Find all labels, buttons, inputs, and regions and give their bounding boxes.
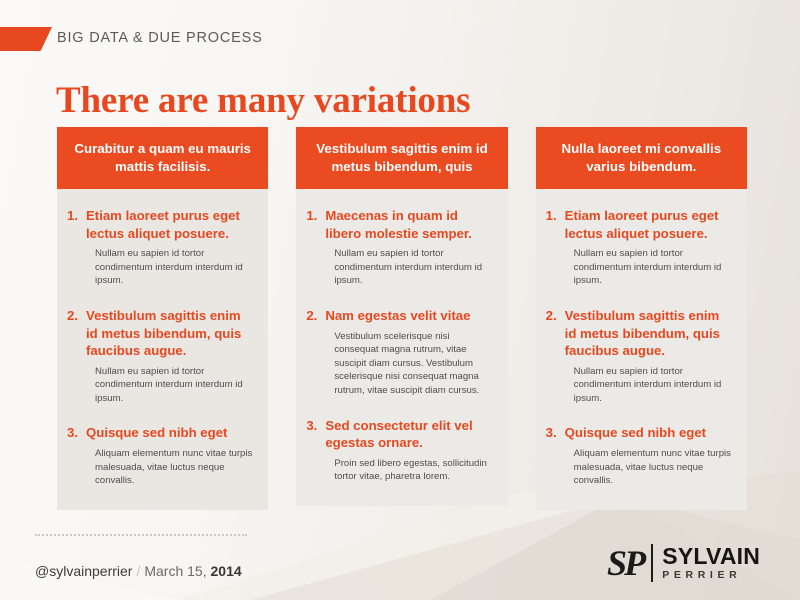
column-body-1: 1. Etiam laoreet purus eget lectus aliqu… xyxy=(57,189,268,510)
slide-eyebrow: BIG DATA & DUE PROCESS xyxy=(57,30,263,46)
list-item: 1. Etiam laoreet purus eget lectus aliqu… xyxy=(546,207,733,288)
column-group: Curabitur a quam eu mauris mattis facili… xyxy=(57,127,747,510)
footer-year: 2014 xyxy=(211,563,242,579)
list-item-number: 3. xyxy=(306,417,325,484)
list-item: 3. Quisque sed nibh eget Aliquam element… xyxy=(546,424,733,487)
list-item-title: Etiam laoreet purus eget lectus aliquet … xyxy=(86,207,254,242)
column-header-3: Nulla laoreet mi convallis varius bibend… xyxy=(536,127,747,189)
content-column-3: Nulla laoreet mi convallis varius bibend… xyxy=(536,127,747,510)
column-body-2: 1. Maecenas in quam id libero molestie s… xyxy=(296,189,507,506)
list-item-number: 1. xyxy=(67,207,86,288)
list-item-title: Vestibulum sagittis enim id metus bibend… xyxy=(86,307,254,360)
logo-wordmark: SYLVAIN PERRIER xyxy=(662,544,760,582)
list-item-description: Vestibulum scelerisque nisi consequat ma… xyxy=(325,330,493,398)
list-item-title: Sed consectetur elit vel egestas ornare. xyxy=(325,417,493,452)
list-item-number: 2. xyxy=(67,307,86,405)
list-item: 3. Sed consectetur elit vel egestas orna… xyxy=(306,417,493,484)
list-item-title: Nam egestas velit vitae xyxy=(325,307,493,325)
list-item-description: Nullam eu sapien id tortor condimentum i… xyxy=(565,247,733,288)
column-header-1: Curabitur a quam eu mauris mattis facili… xyxy=(57,127,268,189)
content-column-1: Curabitur a quam eu mauris mattis facili… xyxy=(57,127,268,510)
list-item-title: Vestibulum sagittis enim id metus bibend… xyxy=(565,307,733,360)
list-item-title: Etiam laoreet purus eget lectus aliquet … xyxy=(565,207,733,242)
list-item: 2. Vestibulum sagittis enim id metus bib… xyxy=(546,307,733,405)
list-item-description: Aliquam elementum nunc vitae turpis male… xyxy=(86,447,254,488)
list-item-number: 1. xyxy=(546,207,565,288)
list-item-text: Vestibulum sagittis enim id metus bibend… xyxy=(565,307,733,405)
list-item-text: Etiam laoreet purus eget lectus aliquet … xyxy=(565,207,733,288)
list-item-text: Etiam laoreet purus eget lectus aliquet … xyxy=(86,207,254,288)
list-item-description: Aliquam elementum nunc vitae turpis male… xyxy=(565,447,733,488)
list-item: 2. Vestibulum sagittis enim id metus bib… xyxy=(67,307,254,405)
footer-credit: @sylvainperrier/March 15, 2014 xyxy=(35,563,242,579)
logo-first-name: SYLVAIN xyxy=(662,544,760,568)
list-item-text: Vestibulum sagittis enim id metus bibend… xyxy=(86,307,254,405)
list-item: 1. Etiam laoreet purus eget lectus aliqu… xyxy=(67,207,254,288)
logo-divider xyxy=(651,544,653,582)
list-item-description: Proin sed libero egestas, sollicitudin t… xyxy=(325,457,493,484)
page-title: There are many variations xyxy=(56,82,470,121)
list-item: 1. Maecenas in quam id libero molestie s… xyxy=(306,207,493,288)
list-item-description: Nullam eu sapien id tortor condimentum i… xyxy=(86,247,254,288)
logo-last-name: PERRIER xyxy=(662,569,760,582)
list-item-number: 3. xyxy=(67,424,86,487)
list-item-description: Nullam eu sapien id tortor condimentum i… xyxy=(86,365,254,406)
list-item-description: Nullam eu sapien id tortor condimentum i… xyxy=(565,365,733,406)
list-item-number: 2. xyxy=(306,307,325,398)
list-item: 3. Quisque sed nibh eget Aliquam element… xyxy=(67,424,254,487)
list-item-number: 3. xyxy=(546,424,565,487)
list-item-text: Sed consectetur elit vel egestas ornare.… xyxy=(325,417,493,484)
content-column-2: Vestibulum sagittis enim id metus bibend… xyxy=(296,127,507,510)
list-item: 2. Nam egestas velit vitae Vestibulum sc… xyxy=(306,307,493,398)
column-body-3: 1. Etiam laoreet purus eget lectus aliqu… xyxy=(536,189,747,510)
list-item-description: Nullam eu sapien id tortor condimentum i… xyxy=(325,247,493,288)
list-item-text: Nam egestas velit vitae Vestibulum scele… xyxy=(325,307,493,398)
brand-tab-shape xyxy=(0,27,52,51)
monogram-icon: SP xyxy=(607,545,649,581)
list-item-text: Quisque sed nibh eget Aliquam elementum … xyxy=(565,424,733,487)
list-item-title: Quisque sed nibh eget xyxy=(86,424,254,442)
list-item-number: 1. xyxy=(306,207,325,288)
list-item-text: Quisque sed nibh eget Aliquam elementum … xyxy=(86,424,254,487)
list-item-title: Quisque sed nibh eget xyxy=(565,424,733,442)
column-header-2: Vestibulum sagittis enim id metus bibend… xyxy=(296,127,507,189)
list-item-text: Maecenas in quam id libero molestie semp… xyxy=(325,207,493,288)
list-item-number: 2. xyxy=(546,307,565,405)
footer-divider xyxy=(35,534,247,537)
slide-canvas: BIG DATA & DUE PROCESS There are many va… xyxy=(0,0,800,600)
list-item-title: Maecenas in quam id libero molestie semp… xyxy=(325,207,493,242)
footer-date: March 15, xyxy=(144,563,206,579)
brand-logo: SP SYLVAIN PERRIER xyxy=(607,540,760,586)
footer-separator: / xyxy=(136,563,140,579)
footer-handle: @sylvainperrier xyxy=(35,563,132,579)
